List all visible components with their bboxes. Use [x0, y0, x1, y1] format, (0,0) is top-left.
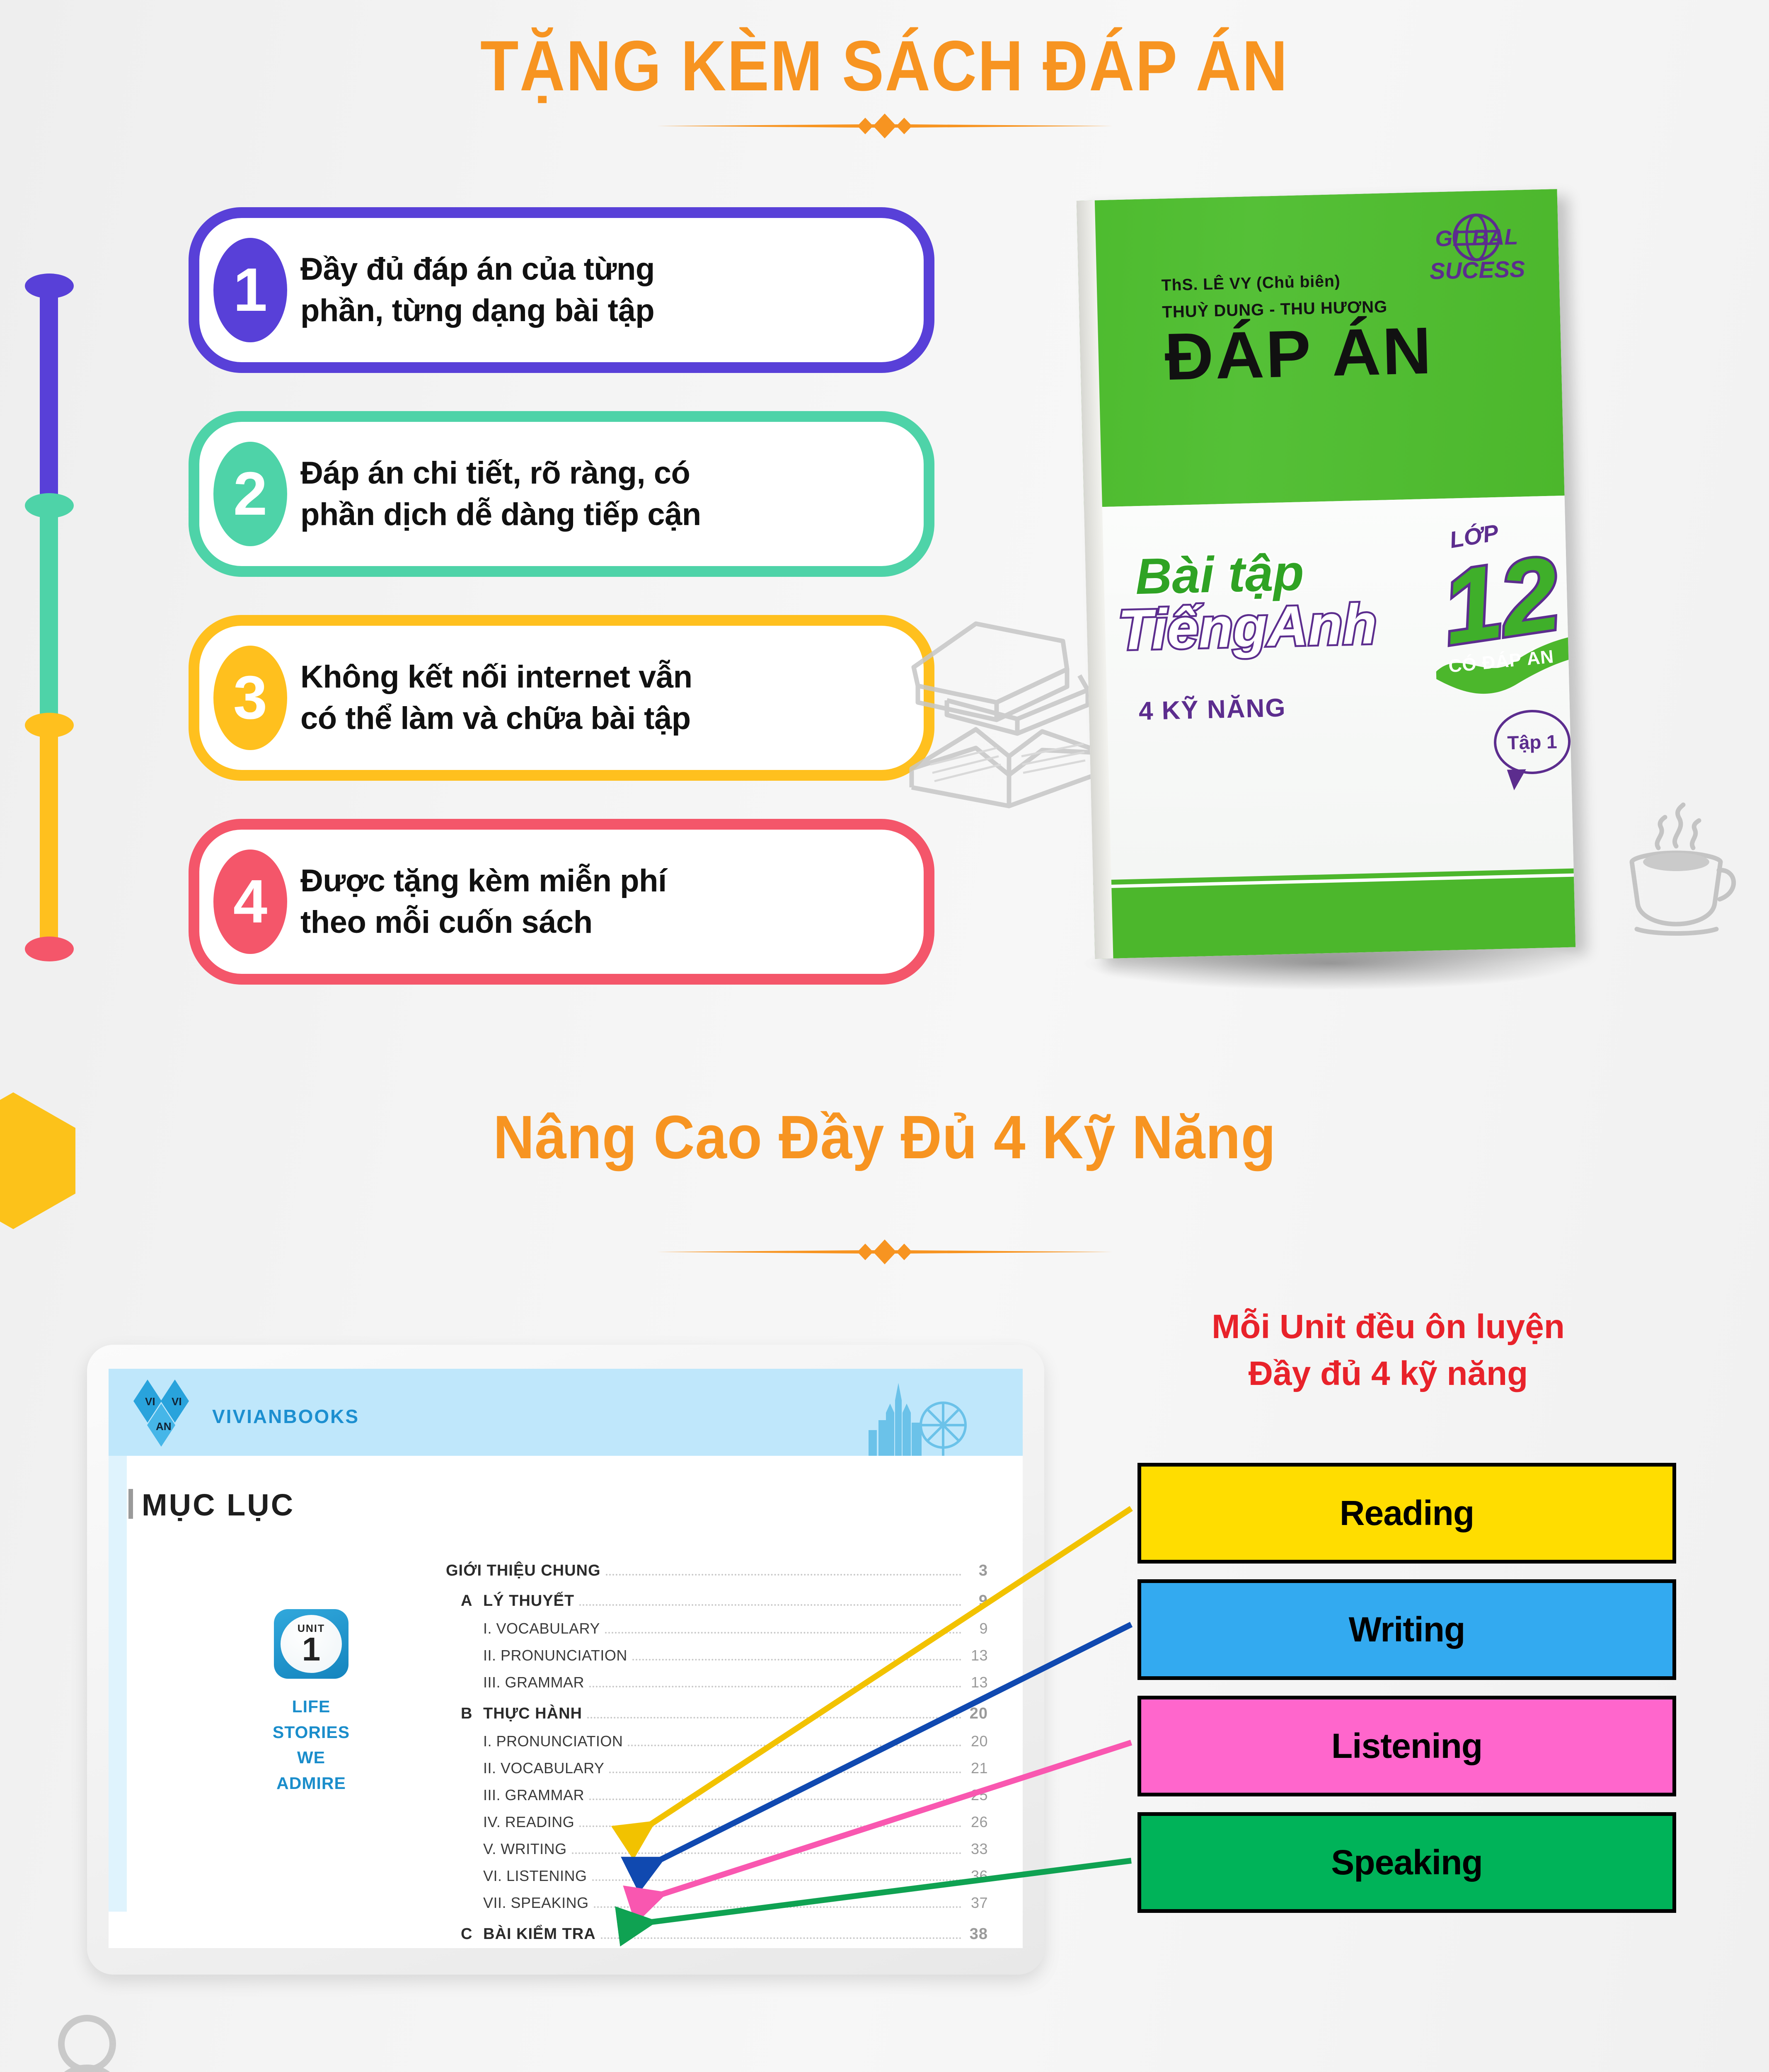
unit-title-line: WE [251, 1745, 371, 1771]
toc-leader [579, 1825, 961, 1827]
badge-line-2: SUCESS [1417, 255, 1538, 285]
feature-card[interactable]: 3 Không kết nối internet vẫn có thể làm … [189, 615, 934, 781]
toc-label: VI. LISTENING [483, 1867, 587, 1885]
skill-box-speaking[interactable]: Speaking [1137, 1812, 1676, 1913]
toc-row[interactable]: GIỚI THIỆU CHUNG 3 [446, 1562, 988, 1581]
toc-page: 20 [966, 1705, 988, 1723]
book-main-title: ĐÁP ÁN [1164, 312, 1433, 395]
toc-label: IV. READING [483, 1813, 574, 1831]
toc-leader [601, 1937, 961, 1939]
toc-row[interactable]: III. GRAMMAR 25 [446, 1786, 988, 1805]
toc-letter: C [461, 1925, 483, 1943]
timeline-dot-3 [25, 713, 74, 738]
toc-row[interactable]: III. GRAMMAR 13 [446, 1674, 988, 1692]
unit-title-line: STORIES [251, 1720, 371, 1745]
skill-box-listening[interactable]: Listening [1137, 1696, 1676, 1796]
skill-label: Reading [1340, 1493, 1474, 1533]
divider-ornament [657, 111, 1113, 140]
skill-box-writing[interactable]: Writing [1137, 1579, 1676, 1680]
feature-text-line2: phần dịch dễ dàng tiếp cận [300, 494, 701, 535]
feature-text-line1: Được tặng kèm miễn phí [300, 860, 667, 902]
toc-page: 37 [966, 1894, 988, 1912]
toc-page: 9 [966, 1620, 988, 1637]
feature-text-line1: Không kết nối internet vẫn [300, 656, 692, 698]
toc-label: III. GRAMMAR [483, 1786, 584, 1804]
toc-leader [632, 1659, 961, 1661]
page-side-band [109, 1456, 127, 1912]
coffee-cup-icon [1608, 800, 1745, 937]
global-success-badge: GL BAL SUCESS [1416, 210, 1538, 304]
toc-row[interactable]: V. WRITING 33 [446, 1840, 988, 1859]
book-page-body: MỤC LỤC UNIT 1 LIFE STORIES WE ADMIRE GI… [127, 1456, 1023, 1948]
vivianbooks-logo-icon: VI VI AN [132, 1378, 204, 1451]
toc-row[interactable]: II. PRONUNCIATION 13 [446, 1647, 988, 1665]
divider-ornament-2 [657, 1237, 1113, 1266]
main-header: TẶNG KÈM SÁCH ĐÁP ÁN [0, 25, 1769, 107]
feature-card-list: 1 Đầy đủ đáp án của từng phần, từng dạng… [189, 207, 934, 1023]
tablet-screen[interactable]: VI VI AN VIVIANBOOKS [109, 1369, 1023, 1948]
table-of-contents: GIỚI THIỆU CHUNG 3 A LÝ THUYẾT 9 I. VOCA… [446, 1562, 988, 1944]
toc-page: 13 [966, 1647, 988, 1664]
toc-row[interactable]: IV. READING 26 [446, 1813, 988, 1832]
feature-number: 1 [213, 238, 287, 342]
toc-letter: A [461, 1592, 483, 1610]
skill-box-reading[interactable]: Reading [1137, 1463, 1676, 1564]
feature-text-line1: Đáp án chi tiết, rõ ràng, có [300, 453, 701, 494]
toc-row[interactable]: B THỰC HÀNH 20 [446, 1705, 988, 1723]
toc-page: 9 [966, 1592, 988, 1610]
toc-row[interactable]: II. VOCABULARY 21 [446, 1760, 988, 1778]
toc-page: 13 [966, 1674, 988, 1691]
feature-text: Đầy đủ đáp án của từng phần, từng dạng b… [300, 249, 655, 332]
badge-line-1: GL BAL [1416, 223, 1537, 252]
svg-text:VI: VI [145, 1395, 155, 1408]
toc-leader [594, 1906, 961, 1908]
feature-card[interactable]: 1 Đầy đủ đáp án của từng phần, từng dạng… [189, 207, 934, 373]
skill-label: Listening [1331, 1726, 1482, 1766]
unit-number: 1 [302, 1634, 321, 1665]
feature-number: 2 [213, 442, 287, 546]
book-photo: ThS. LÊ VY (Chủ biên) THUỲ DUNG - THU HƯ… [1048, 195, 1595, 1003]
page-title-muc-luc: MỤC LỤC [142, 1487, 295, 1523]
tablet-device: VI VI AN VIVIANBOOKS [87, 1345, 1044, 1975]
feature-text: Không kết nối internet vẫn có thể làm và… [300, 656, 692, 740]
timeline-segment-1 [40, 286, 58, 518]
toc-letter: B [461, 1705, 483, 1723]
toc-leader [589, 1686, 961, 1687]
feature-text-line1: Đầy đủ đáp án của từng [300, 249, 655, 290]
toc-label: BÀI KIỂM TRA [483, 1925, 596, 1943]
unit-badge: UNIT 1 [274, 1609, 348, 1679]
toc-page: 3 [966, 1562, 988, 1580]
timeline-segment-2 [40, 506, 58, 738]
toc-label: GIỚI THIỆU CHUNG [446, 1562, 601, 1580]
feature-text-line2: theo mỗi cuốn sách [300, 902, 667, 943]
timeline-rail [25, 274, 75, 1019]
toc-row[interactable]: VII. SPEAKING 37 [446, 1894, 988, 1913]
toc-leader [589, 1798, 961, 1800]
feature-number: 3 [213, 646, 287, 750]
toc-row[interactable]: A LÝ THUYẾT 9 [446, 1592, 988, 1611]
feature-text-line2: phần, từng dạng bài tập [300, 290, 655, 332]
toc-leader [605, 1632, 961, 1634]
toc-page: 36 [966, 1867, 988, 1885]
toc-leader [606, 1574, 961, 1576]
unit-title: LIFE STORIES WE ADMIRE [251, 1694, 371, 1796]
person-reading-icon [19, 2006, 155, 2072]
timeline-dot-1 [25, 274, 74, 298]
toc-page: 33 [966, 1840, 988, 1858]
book-subtitle-tienganh: TiếngAnh [1117, 591, 1377, 662]
unit-badge-inner: UNIT 1 [281, 1615, 342, 1673]
skill-box-list: Reading Writing Listening Speaking [1137, 1463, 1676, 1929]
toc-page: 25 [966, 1786, 988, 1804]
unit-title-line: LIFE [251, 1694, 371, 1720]
toc-label: I. VOCABULARY [483, 1620, 600, 1637]
toc-page: 21 [966, 1760, 988, 1777]
feature-number: 4 [213, 850, 287, 954]
toc-label: II. VOCABULARY [483, 1760, 604, 1777]
right-heading-line1: Mỗi Unit đều ôn luyện [1077, 1303, 1699, 1350]
section2-title: Nâng Cao Đầy Đủ 4 Kỹ Năng [493, 1102, 1276, 1173]
book-skills-note: 4 KỸ NĂNG [1138, 693, 1286, 726]
city-skyline-icon [855, 1377, 992, 1456]
book-page-header: VI VI AN VIVIANBOOKS [109, 1369, 1023, 1456]
feature-text: Đáp án chi tiết, rõ ràng, có phần dịch d… [300, 453, 701, 536]
page-title-bar [128, 1489, 133, 1519]
toc-label: I. PRONUNCIATION [483, 1733, 623, 1750]
toc-leader [609, 1772, 961, 1773]
toc-leader [579, 1604, 961, 1606]
feature-card[interactable]: 2 Đáp án chi tiết, rõ ràng, có phần dịch… [189, 411, 934, 577]
feature-card[interactable]: 4 Được tặng kèm miễn phí theo mỗi cuốn s… [189, 819, 934, 985]
toc-page: 38 [966, 1925, 988, 1943]
toc-label: V. WRITING [483, 1840, 567, 1858]
toc-row[interactable]: C BÀI KIỂM TRA 38 [446, 1925, 988, 1944]
toc-label: III. GRAMMAR [483, 1674, 584, 1691]
toc-label: VII. SPEAKING [483, 1894, 589, 1912]
book-cover-bottom-panel [1093, 877, 1575, 959]
feature-text: Được tặng kèm miễn phí theo mỗi cuốn sác… [300, 860, 667, 944]
unit-title-line: ADMIRE [251, 1771, 371, 1796]
svg-text:AN: AN [156, 1420, 172, 1433]
page-title: TẶNG KÈM SÁCH ĐÁP ÁN [480, 25, 1288, 107]
vivianbooks-brand-label: VIVIANBOOKS [212, 1405, 359, 1428]
svg-text:VI: VI [172, 1395, 182, 1408]
timeline-dot-2 [25, 493, 74, 518]
skill-label: Writing [1349, 1610, 1465, 1650]
toc-row[interactable]: VI. LISTENING 36 [446, 1867, 988, 1886]
skill-label: Speaking [1331, 1842, 1482, 1883]
toc-row[interactable]: I. VOCABULARY 9 [446, 1620, 988, 1639]
feature-text-line2: có thể làm và chữa bài tập [300, 698, 692, 739]
right-heading-line2: Đầy đủ 4 kỹ năng [1077, 1350, 1699, 1397]
toc-leader [592, 1879, 961, 1881]
toc-row[interactable]: I. PRONUNCIATION 20 [446, 1733, 988, 1751]
toc-label: II. PRONUNCIATION [483, 1647, 627, 1664]
timeline-dot-4 [25, 937, 74, 961]
section2-header: Nâng Cao Đầy Đủ 4 Kỹ Năng [0, 1102, 1769, 1173]
toc-label: THỰC HÀNH [483, 1705, 582, 1723]
book-cover: ThS. LÊ VY (Chủ biên) THUỲ DUNG - THU HƯ… [1077, 189, 1575, 959]
toc-page: 20 [966, 1733, 988, 1750]
toc-leader [628, 1745, 961, 1746]
toc-leader [572, 1852, 961, 1854]
toc-leader [587, 1717, 961, 1719]
right-panel-heading: Mỗi Unit đều ôn luyện Đầy đủ 4 kỹ năng [1077, 1303, 1699, 1397]
toc-page: 26 [966, 1813, 988, 1831]
timeline-segment-3 [40, 725, 58, 957]
toc-label: LÝ THUYẾT [483, 1592, 574, 1610]
